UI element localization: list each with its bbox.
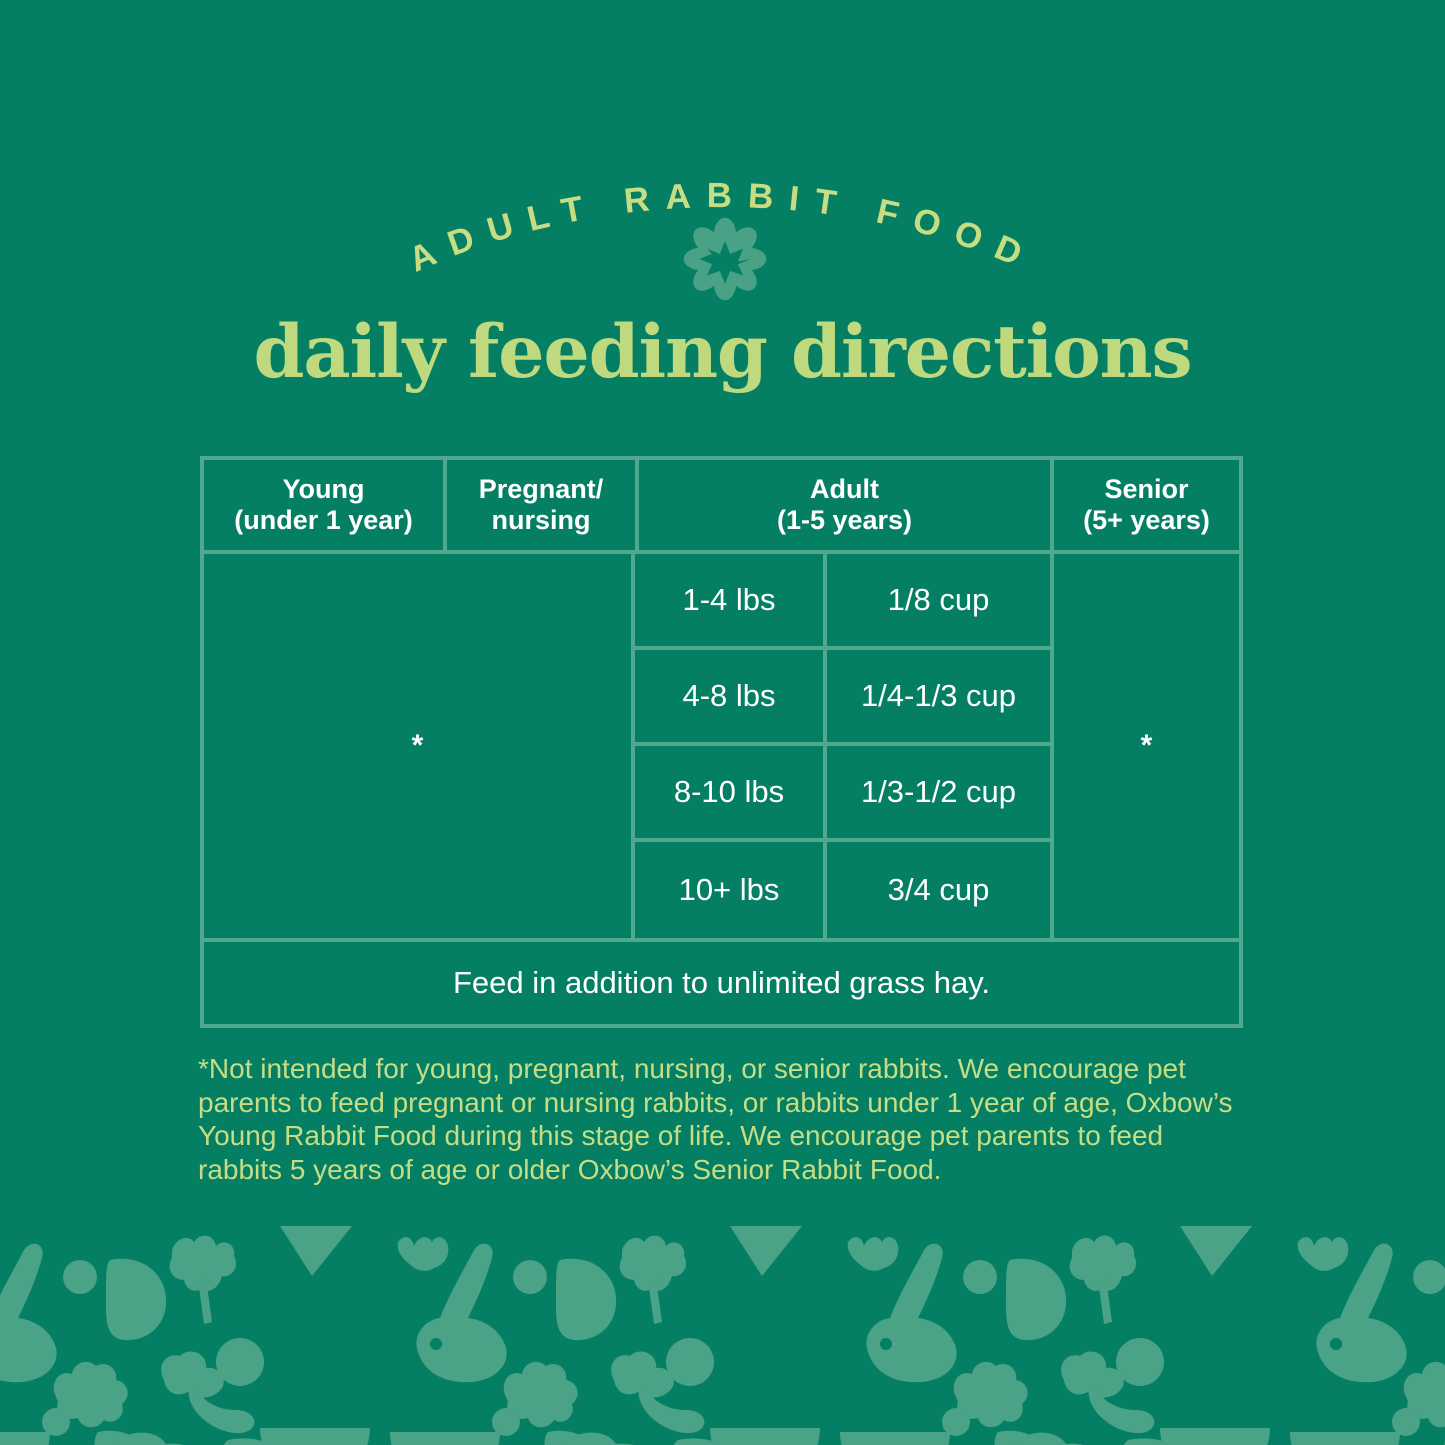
- adult-weight-3: 10+ lbs: [635, 842, 827, 938]
- disclaimer-text: *Not intended for young, pregnant, nursi…: [198, 1052, 1250, 1186]
- feeding-directions-panel: ADULT RABBIT FOOD daily feeding: [0, 0, 1445, 1445]
- table-row: 10+ lbs 3/4 cup: [635, 842, 1050, 938]
- table-header-row: Young (under 1 year) Pregnant/ nursing A…: [204, 460, 1239, 554]
- rosette-flower-icon: [682, 216, 768, 302]
- adult-amount-1: 1/4-1/3 cup: [827, 650, 1050, 742]
- decorative-pattern-band: [0, 1222, 1445, 1445]
- table-header-pregnant: Pregnant/ nursing: [447, 460, 639, 550]
- adult-weight-0: 1-4 lbs: [635, 554, 827, 646]
- table-header-young: Young (under 1 year): [204, 460, 447, 550]
- adult-weight-2: 8-10 lbs: [635, 746, 827, 838]
- header-pregnant-line1: Pregnant/: [479, 474, 604, 505]
- table-row: 8-10 lbs 1/3-1/2 cup: [635, 746, 1050, 842]
- header-senior-line2: (5+ years): [1083, 505, 1210, 536]
- table-body: * 1-4 lbs 1/8 cup 4-8 lbs 1/4-1/3 cup 8-…: [204, 554, 1239, 942]
- pattern-tiles: [0, 1226, 1445, 1445]
- table-header-senior: Senior (5+ years): [1054, 460, 1239, 550]
- adult-amount-2: 1/3-1/2 cup: [827, 746, 1050, 838]
- adult-subtable: 1-4 lbs 1/8 cup 4-8 lbs 1/4-1/3 cup 8-10…: [635, 554, 1054, 938]
- table-row: 1-4 lbs 1/8 cup: [635, 554, 1050, 650]
- adult-amount-0: 1/8 cup: [827, 554, 1050, 646]
- feeding-table: Young (under 1 year) Pregnant/ nursing A…: [200, 456, 1243, 1028]
- table-footer-note: Feed in addition to unlimited grass hay.: [204, 942, 1239, 1024]
- header-adult-line2: (1-5 years): [777, 505, 912, 536]
- adult-amount-3: 3/4 cup: [827, 842, 1050, 938]
- header-pregnant-line2: nursing: [492, 505, 591, 536]
- adult-weight-1: 4-8 lbs: [635, 650, 827, 742]
- table-row: 4-8 lbs 1/4-1/3 cup: [635, 650, 1050, 746]
- cell-senior-asterisk: *: [1054, 554, 1239, 938]
- header-adult-line1: Adult: [810, 474, 879, 505]
- header-young-line1: Young: [283, 474, 365, 505]
- page-title: daily feeding directions: [0, 316, 1445, 389]
- cell-young-pregnant-asterisk: *: [204, 554, 635, 938]
- header-senior-line1: Senior: [1104, 474, 1188, 505]
- header-young-line2: (under 1 year): [234, 505, 413, 536]
- table-header-adult: Adult (1-5 years): [639, 460, 1054, 550]
